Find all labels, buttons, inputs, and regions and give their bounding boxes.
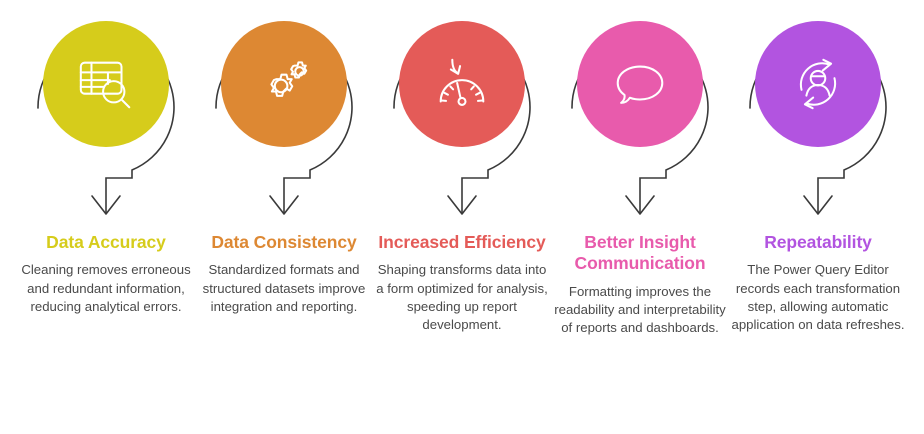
text-block: Data Accuracy Cleaning removes erroneous…	[18, 232, 194, 316]
column-heading: Data Accuracy	[18, 232, 194, 253]
column-body: Formatting improves the readability and …	[552, 283, 728, 338]
infographic-column: Data Accuracy Cleaning removes erroneous…	[18, 0, 194, 316]
icon-circle-data-accuracy[interactable]	[43, 21, 169, 147]
gears-icon	[253, 53, 315, 115]
column-heading: Repeatability	[730, 232, 906, 253]
badge-group	[552, 0, 728, 230]
column-container: Data Accuracy Cleaning removes erroneous…	[0, 0, 924, 434]
table-search-icon	[75, 53, 137, 115]
speech-bubble-icon	[609, 53, 671, 115]
badge-group	[730, 0, 906, 230]
text-block: Repeatability The Power Query Editor rec…	[730, 232, 906, 334]
column-heading: Data Consistency	[196, 232, 372, 253]
text-block: Increased Efficiency Shaping transforms …	[374, 232, 550, 334]
icon-circle-better-insight[interactable]	[577, 21, 703, 147]
icon-circle-repeatability[interactable]	[755, 21, 881, 147]
column-body: The Power Query Editor records each tran…	[730, 261, 906, 334]
text-block: Data Consistency Standardized formats an…	[196, 232, 372, 316]
column-heading: Increased Efficiency	[374, 232, 550, 253]
badge-group	[374, 0, 550, 230]
speedometer-icon	[431, 53, 493, 115]
infographic-root: Data Accuracy Cleaning removes erroneous…	[0, 0, 924, 434]
text-block: Better Insight Communication Formatting …	[552, 232, 728, 337]
icon-circle-data-consistency[interactable]	[221, 21, 347, 147]
badge-group	[18, 0, 194, 230]
badge-group	[196, 0, 372, 230]
user-refresh-icon	[787, 53, 849, 115]
column-heading: Better Insight Communication	[552, 232, 728, 275]
column-body: Cleaning removes erroneous and redundant…	[18, 261, 194, 316]
infographic-column: Better Insight Communication Formatting …	[552, 0, 728, 337]
infographic-column: Data Consistency Standardized formats an…	[196, 0, 372, 316]
infographic-column: Repeatability The Power Query Editor rec…	[730, 0, 906, 334]
column-body: Shaping transforms data into a form opti…	[374, 261, 550, 334]
column-body: Standardized formats and structured data…	[196, 261, 372, 316]
infographic-column: Increased Efficiency Shaping transforms …	[374, 0, 550, 334]
icon-circle-increased-efficiency[interactable]	[399, 21, 525, 147]
